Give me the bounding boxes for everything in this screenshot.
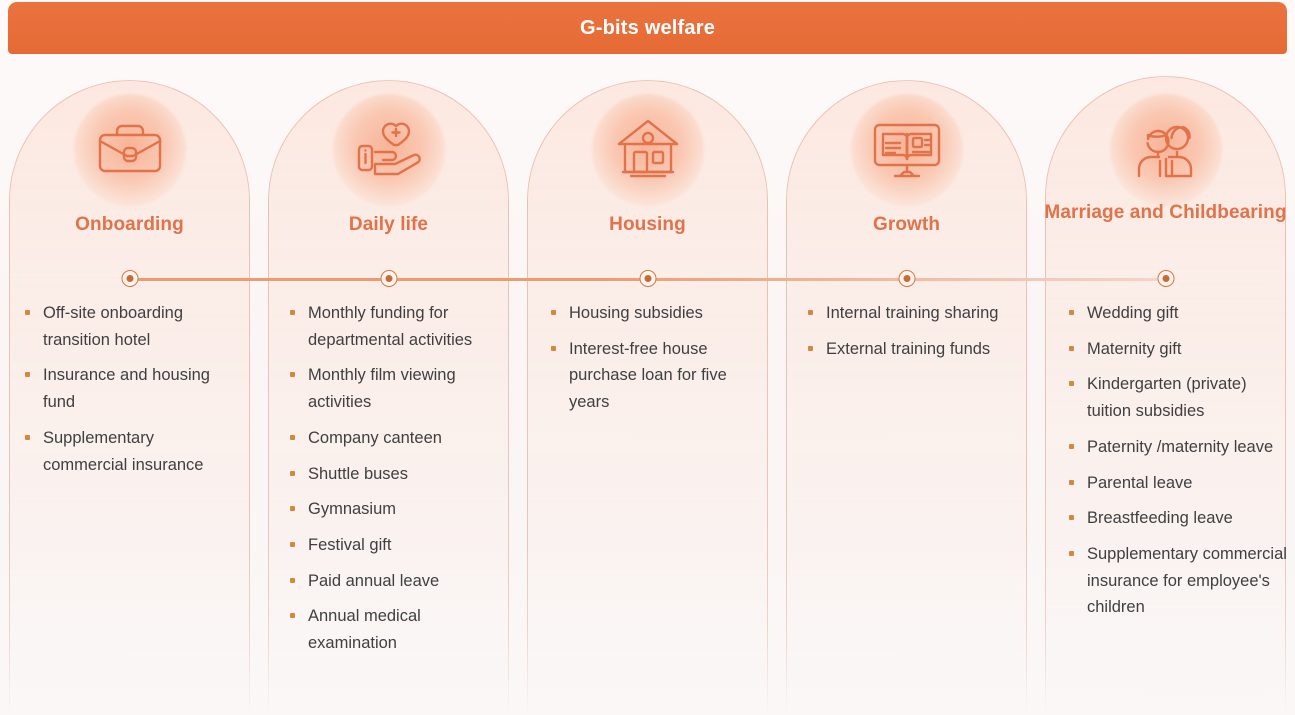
timeline-dot-growth xyxy=(898,270,915,287)
list-item: Paternity /maternity leave xyxy=(1066,434,1289,461)
list-item: Parental leave xyxy=(1066,470,1289,497)
briefcase-icon xyxy=(91,114,169,186)
list-item: Supplementary commercial insurance for e… xyxy=(1066,541,1289,621)
column-housing[interactable]: Housing Housing subsidies Interest-free … xyxy=(518,62,777,715)
list-item: Annual medical examination xyxy=(287,603,506,656)
list-daily-life: Monthly funding for departmental activit… xyxy=(287,300,506,666)
list-item: Supplementary commercial insurance xyxy=(22,425,241,478)
house-icon xyxy=(610,113,686,187)
icon-wrap-marriage-and-childbearing xyxy=(1036,92,1295,208)
list-item: Interest-free house purchase loan for fi… xyxy=(548,336,763,416)
column-onboarding[interactable]: Onboarding Off-site onboarding transitio… xyxy=(0,62,259,715)
list-item: Monthly film viewing activities xyxy=(287,362,506,415)
column-title-daily-life: Daily life xyxy=(263,214,514,235)
list-item: External training funds xyxy=(805,336,1020,363)
columns-container: Onboarding Off-site onboarding transitio… xyxy=(0,62,1295,715)
icon-wrap-onboarding xyxy=(0,92,259,208)
couple-icon xyxy=(1125,115,1207,185)
list-housing: Housing subsidies Interest-free house pu… xyxy=(548,300,763,425)
icon-wrap-daily-life xyxy=(259,92,518,208)
list-item: Maternity gift xyxy=(1066,336,1289,363)
list-item: Gymnasium xyxy=(287,496,506,523)
icon-wrap-growth xyxy=(777,92,1036,208)
header-bar: G-bits welfare xyxy=(8,2,1287,54)
timeline-dot-marriage-and-childbearing xyxy=(1157,270,1174,287)
list-item: Festival gift xyxy=(287,532,506,559)
timeline-dot-housing xyxy=(639,270,656,287)
column-marriage-and-childbearing[interactable]: Marriage and Childbearing Wedding gift M… xyxy=(1036,62,1295,715)
list-item: Paid annual leave xyxy=(287,568,506,595)
list-growth: Internal training sharing External train… xyxy=(805,300,1020,371)
column-daily-life[interactable]: Daily life Monthly funding for departmen… xyxy=(259,62,518,715)
column-title-housing: Housing xyxy=(522,214,773,235)
column-title-growth: Growth xyxy=(781,214,1032,235)
monitor-book-icon xyxy=(867,115,947,185)
hand-holding-heart-icon xyxy=(348,114,430,186)
timeline-dot-onboarding xyxy=(121,270,138,287)
list-item: Off-site onboarding transition hotel xyxy=(22,300,241,353)
list-item: Monthly funding for departmental activit… xyxy=(287,300,506,353)
list-onboarding: Off-site onboarding transition hotel Ins… xyxy=(22,300,241,487)
list-item: Wedding gift xyxy=(1066,300,1289,327)
list-marriage-and-childbearing: Wedding gift Maternity gift Kindergarten… xyxy=(1066,300,1289,630)
list-item: Internal training sharing xyxy=(805,300,1020,327)
list-item: Kindergarten (private) tuition subsidies xyxy=(1066,371,1289,424)
timeline-dot-daily-life xyxy=(380,270,397,287)
list-item: Insurance and housing fund xyxy=(22,362,241,415)
infographic-root: G-bits welfare Onboarding xyxy=(0,0,1295,715)
column-title-onboarding: Onboarding xyxy=(4,214,255,235)
list-item: Breastfeeding leave xyxy=(1066,505,1289,532)
icon-wrap-housing xyxy=(518,92,777,208)
column-growth[interactable]: Growth Internal training sharing Externa… xyxy=(777,62,1036,715)
list-item: Company canteen xyxy=(287,425,506,452)
column-title-marriage-and-childbearing: Marriage and Childbearing xyxy=(1040,202,1291,223)
list-item: Shuttle buses xyxy=(287,461,506,488)
list-item: Housing subsidies xyxy=(548,300,763,327)
page-title: G-bits welfare xyxy=(580,17,715,40)
